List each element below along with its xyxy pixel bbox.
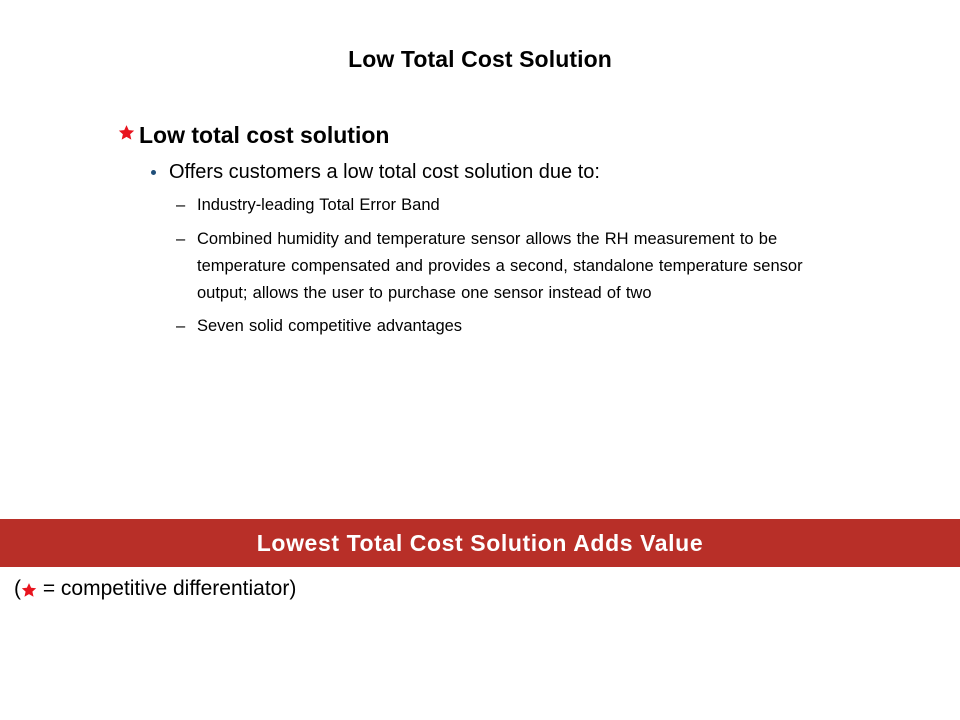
bullet-level1: Low total cost solution bbox=[118, 122, 908, 148]
highlight-banner-text: Lowest Total Cost Solution Adds Value bbox=[257, 530, 703, 557]
bullet-level3-label: Combined humidity and temperature sensor… bbox=[197, 226, 848, 306]
bullet-level3-label: Seven solid competitive advantages bbox=[197, 313, 848, 340]
bullet-level1-label: Low total cost solution bbox=[139, 122, 908, 148]
page-title: Low Total Cost Solution bbox=[0, 46, 960, 73]
legend-suffix: = competitive differentiator) bbox=[37, 577, 296, 601]
bullet-level3: – Seven solid competitive advantages bbox=[176, 313, 848, 340]
slide-body: Low total cost solution Offers customers… bbox=[118, 122, 908, 347]
blue-dot-icon bbox=[151, 161, 169, 175]
en-dash-bullet-icon: – bbox=[176, 313, 197, 340]
highlight-banner: Lowest Total Cost Solution Adds Value bbox=[0, 519, 960, 567]
slide: Low Total Cost Solution Low total cost s… bbox=[0, 0, 960, 720]
bullet-level3: – Industry-leading Total Error Band bbox=[176, 192, 848, 219]
en-dash-bullet-icon: – bbox=[176, 192, 197, 219]
en-dash-bullet-icon: – bbox=[176, 226, 197, 253]
bullet-level2-label: Offers customers a low total cost soluti… bbox=[169, 160, 908, 184]
bullet-level3-label: Industry-leading Total Error Band bbox=[197, 192, 848, 219]
bullet-level2: Offers customers a low total cost soluti… bbox=[151, 160, 908, 184]
red-star-icon bbox=[118, 124, 137, 141]
red-star-icon bbox=[21, 582, 37, 598]
legend-footnote: ( = competitive differentiator) bbox=[14, 577, 296, 601]
bullet-level3: – Combined humidity and temperature sens… bbox=[176, 226, 848, 306]
legend-prefix: ( bbox=[14, 577, 21, 601]
